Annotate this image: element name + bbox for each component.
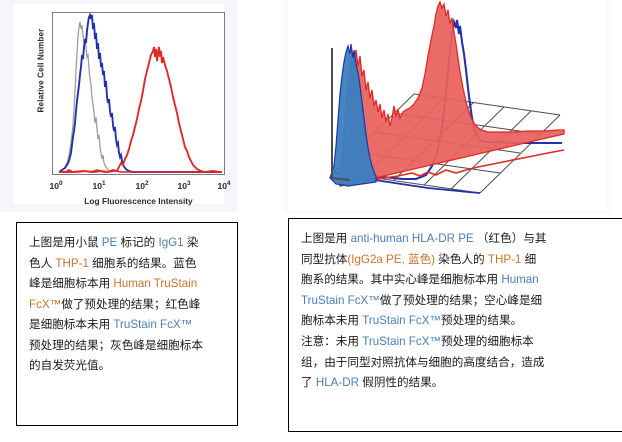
caption-run: Human TruStain (113, 277, 197, 290)
caption-run: 预处理的结果；灰色峰是细胞标本 (29, 339, 203, 352)
caption-run: (IgG2a PE, (347, 253, 408, 266)
caption-line: 胞系的结果。其中实心峰是细胞标本用 Human (301, 270, 622, 291)
caption-line: 注意：未用 TruStain FcX™预处理的细胞标本 (301, 332, 622, 353)
right-panel: 上图是用 anti-human HLA-DR PE （红色）与其同型抗体(IgG… (282, 0, 622, 442)
x-axis-label: Log Fluorescence Intensity (52, 196, 225, 206)
caption-run: 上图是用 (301, 232, 351, 245)
caption-line: 预处理的结果；灰色峰是细胞标本 (29, 336, 225, 357)
x-tick-3: 103 (177, 180, 190, 191)
caption-run: 染 (187, 236, 199, 249)
series-red-filled-broad (340, 2, 564, 186)
caption-run: THP-1 (55, 257, 92, 270)
left-figure-canvas: Relative Cell Number 100 101 (14, 4, 224, 204)
x-tick-0: 100 (49, 180, 62, 191)
caption-run: 色人 (29, 257, 55, 270)
caption-run: FcX™ (29, 298, 61, 311)
left-caption-text: 上图是用小鼠 PE 标记的 IgG1 染色人 THP-1 细胞系的结果。蓝色峰是… (29, 233, 225, 377)
caption-line: 峰是细胞标本用 Human TruStain (29, 274, 225, 295)
caption-line: 的自发荧光值。 (29, 356, 225, 377)
left-histogram-svg (53, 13, 224, 174)
caption-run: 胞标本未用 (301, 314, 362, 327)
x-tick-1: 101 (92, 180, 105, 191)
left-figure-histogram: Relative Cell Number 100 101 (0, 0, 238, 212)
caption-run: 的自发荧光值。 (29, 359, 110, 372)
caption-run: 峰是细胞标本用 (29, 277, 113, 290)
caption-line: 同型抗体(IgG2a PE, 蓝色) 染色人的 THP-1 细 (301, 250, 622, 271)
caption-run: 染色人的 (438, 253, 488, 266)
caption-line: 组，由于同型对照抗体与细胞的高度结合，造成 (301, 353, 622, 374)
caption-line: FcX™做了预处理的结果；红色峰 (29, 295, 225, 316)
caption-run: PE (102, 236, 121, 249)
x-axis-ticks: 100 101 102 103 104 (52, 180, 225, 194)
caption-run: （红色）与其 (477, 232, 547, 245)
caption-run: TruStain FcX™ (362, 335, 441, 348)
right-caption-box: 上图是用 anti-human HLA-DR PE （红色）与其同型抗体(IgG… (288, 218, 622, 432)
caption-line: 是细胞标本未用 TruStain FcX™ (29, 315, 225, 336)
left-caption-box: 上图是用小鼠 PE 标记的 IgG1 染色人 THP-1 细胞系的结果。蓝色峰是… (16, 222, 238, 426)
left-plot-area (52, 12, 225, 175)
caption-run: 上图是用小鼠 (29, 236, 102, 249)
series-red-no-trustain (59, 47, 222, 172)
caption-run: 做了预处理的结果；红色峰 (61, 298, 200, 311)
caption-run: IgG1 (159, 236, 187, 249)
left-panel: Relative Cell Number 100 101 (0, 0, 250, 442)
caption-line: 了 HLA-DR 假阴性的结果。 (301, 373, 622, 394)
caption-line: 胞标本未用 TruStain FcX™预处理的结果。 (301, 311, 622, 332)
x-tick-4: 104 (217, 180, 230, 191)
caption-run: 做了预处理的结果；空心峰是细 (380, 294, 542, 307)
right-3d-histogram-svg (288, 0, 606, 210)
caption-run: TruStain FcX™ (301, 294, 380, 307)
caption-run: HLA-DR (316, 376, 362, 389)
caption-run: TruStain FcX™ (113, 318, 192, 331)
caption-line: 上图是用小鼠 PE 标记的 IgG1 染 (29, 233, 225, 254)
right-figure-canvas (288, 0, 606, 210)
caption-run: 同型抗体 (301, 253, 347, 266)
caption-run: 了 (301, 376, 316, 389)
caption-run: 细 (525, 253, 537, 266)
caption-run: THP-1 (488, 253, 525, 266)
right-caption-text: 上图是用 anti-human HLA-DR PE （红色）与其同型抗体(IgG… (301, 229, 622, 394)
y-axis-label: Relative Cell Number (37, 11, 46, 131)
x-tick-2: 102 (135, 180, 148, 191)
caption-run: 细胞系的结果。蓝色 (92, 257, 196, 270)
caption-run: 是细胞标本未用 (29, 318, 113, 331)
caption-run: 预处理的结果。 (441, 314, 522, 327)
caption-run: 注意：未用 (301, 335, 362, 348)
caption-run: Human (501, 273, 538, 286)
caption-run: 胞系的结果。其中实心峰是细胞标本用 (301, 273, 501, 286)
caption-run: 标记的 (120, 236, 158, 249)
caption-run: 蓝色 (408, 253, 431, 266)
caption-run: 假阴性的结果。 (362, 376, 443, 389)
caption-line: 上图是用 anti-human HLA-DR PE （红色）与其 (301, 229, 622, 250)
caption-run: 组，由于同型对照抗体与细胞的高度结合，造成 (301, 356, 544, 369)
right-figure-3d-histogram (282, 0, 612, 214)
caption-line: 色人 THP-1 细胞系的结果。蓝色 (29, 254, 225, 275)
caption-run: anti-human HLA-DR PE (351, 232, 477, 245)
caption-line: TruStain FcX™做了预处理的结果；空心峰是细 (301, 291, 622, 312)
caption-run: TruStain FcX™ (362, 314, 441, 327)
caption-run: 预处理的细胞标本 (441, 335, 534, 348)
